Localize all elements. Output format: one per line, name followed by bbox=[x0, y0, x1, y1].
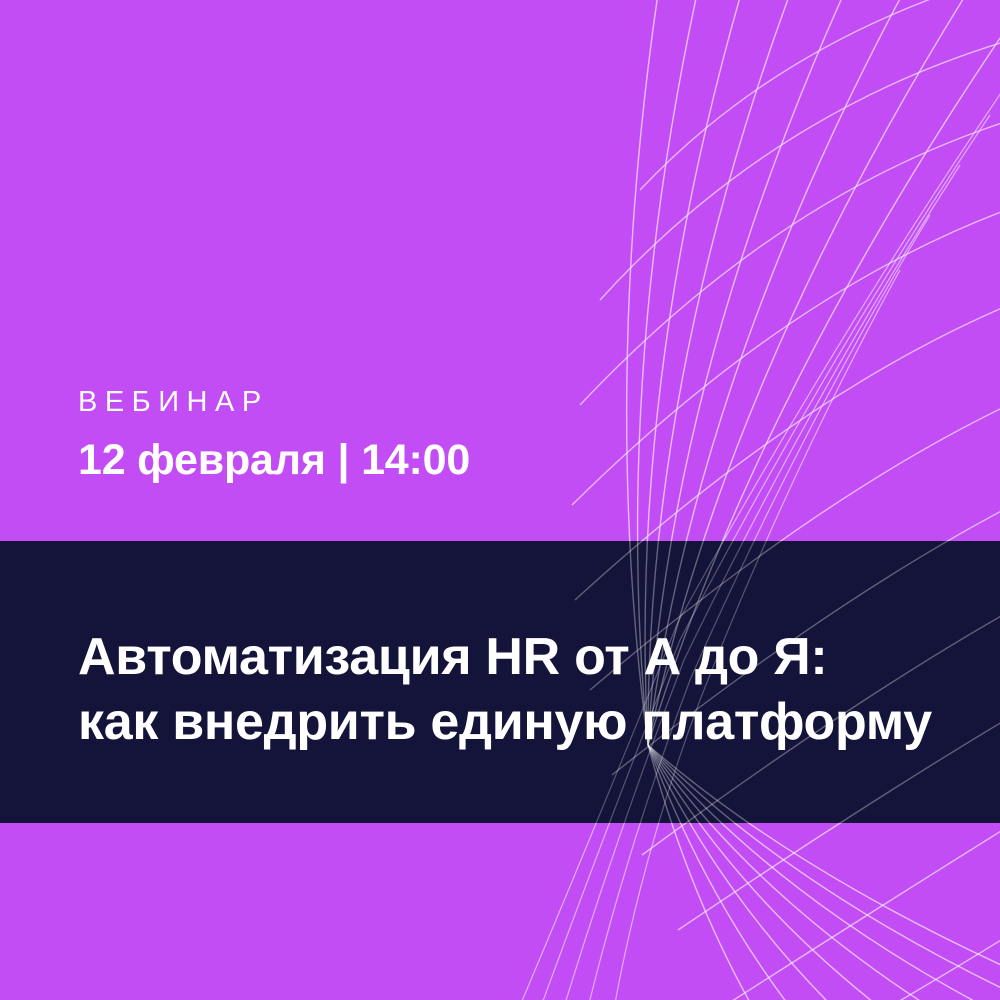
page-title-line-1: Автоматизация HR от А до Я: bbox=[78, 625, 932, 690]
webinar-banner: ВЕБИНАР 12 февраля | 14:00 bbox=[0, 0, 1000, 1000]
page-title-line-2: как внедрить единую платформу bbox=[78, 690, 932, 755]
webinar-meta-block: ВЕБИНАР 12 февраля | 14:00 bbox=[78, 388, 470, 482]
curved-mesh-pattern-icon bbox=[0, 0, 1000, 1000]
date-time-label: 12 февраля | 14:00 bbox=[78, 439, 470, 482]
curved-mesh-pattern-band-icon bbox=[0, 0, 1000, 1000]
page-title: Автоматизация HR от А до Я: как внедрить… bbox=[78, 625, 932, 755]
eyebrow-label: ВЕБИНАР bbox=[78, 388, 470, 417]
